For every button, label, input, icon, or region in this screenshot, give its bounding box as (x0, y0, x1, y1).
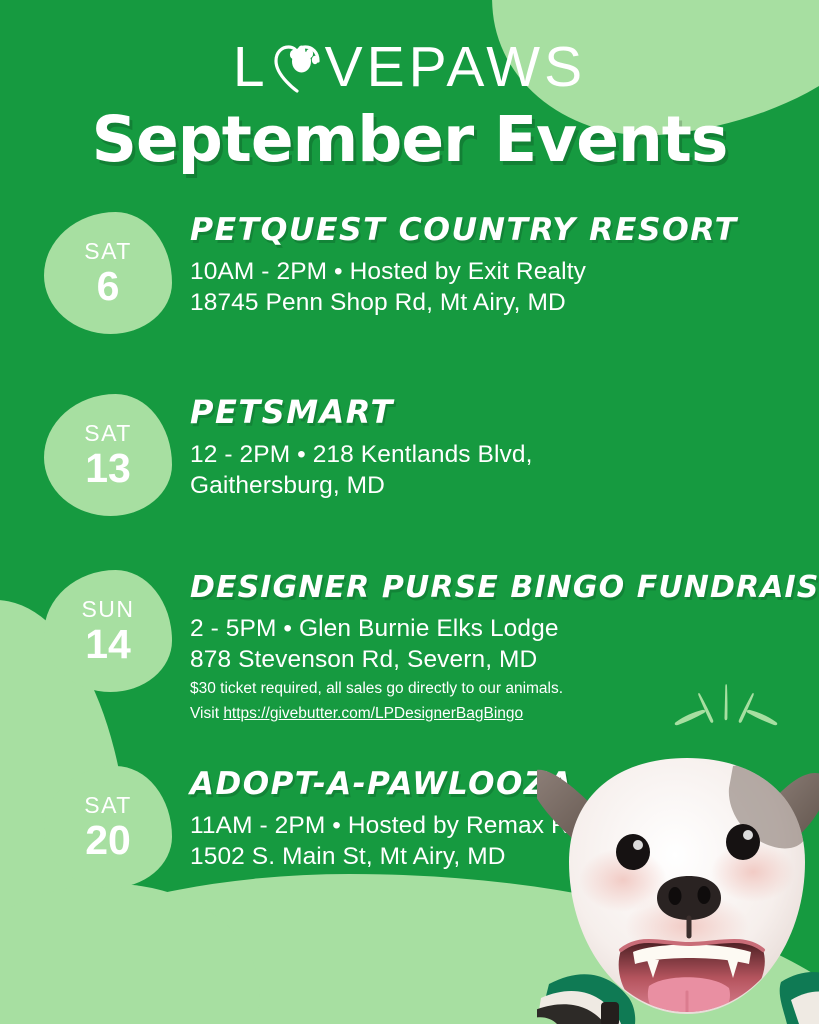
date-badge-day: 13 (85, 448, 131, 489)
list-item: SAT 13 PETSMART 12 - 2PM • 218 Kentlands… (0, 388, 819, 518)
event-link-line: Visit https://givebutter.com/LPDesignerB… (190, 704, 819, 725)
list-item: SAT 20 ADOPT-A-PAWLOOZA 11AM - 2PM • Hos… (0, 760, 819, 890)
event-details: PETQUEST COUNTRY RESORT 10AM - 2PM • Hos… (172, 206, 819, 319)
date-badge: SAT 13 (44, 394, 172, 516)
events-list: SAT 6 PETQUEST COUNTRY RESORT 10AM - 2PM… (0, 206, 819, 920)
event-time-host: 12 - 2PM • 218 Kentlands Blvd, (190, 439, 819, 470)
date-badge-day: 14 (85, 624, 131, 665)
visit-label: Visit (190, 705, 223, 722)
event-url-link[interactable]: https://givebutter.com/LPDesignerBagBing… (223, 705, 523, 722)
event-flyer: L VEPAWS September Events SAT 6 PETQUEST… (0, 0, 819, 1024)
event-address: 878 Stevenson Rd, Severn, MD (190, 644, 819, 675)
date-badge-dayofweek: SAT (84, 794, 132, 817)
event-title: ADOPT-A-PAWLOOZA (190, 768, 819, 801)
logo-text-left: L (233, 39, 269, 96)
event-ticket-note: $30 ticket required, all sales go direct… (190, 679, 819, 700)
event-details: PETSMART 12 - 2PM • 218 Kentlands Blvd, … (172, 388, 819, 501)
event-address: Gaithersburg, MD (190, 470, 819, 501)
brand-logo: L VEPAWS (0, 36, 819, 98)
event-address: 18745 Penn Shop Rd, Mt Airy, MD (190, 287, 819, 318)
list-item: SAT 6 PETQUEST COUNTRY RESORT 10AM - 2PM… (0, 206, 819, 336)
heart-paw-icon (271, 41, 323, 97)
date-badge-dayofweek: SAT (84, 422, 132, 445)
date-badge-dayofweek: SAT (84, 240, 132, 263)
page-title: September Events (0, 108, 819, 171)
event-title: PETQUEST COUNTRY RESORT (190, 214, 819, 247)
date-badge-day: 6 (97, 266, 120, 307)
date-badge: SAT 6 (44, 212, 172, 334)
date-badge-day: 20 (85, 820, 131, 861)
event-details: DESIGNER PURSE BINGO FUNDRAISER 2 - 5PM … (172, 564, 819, 724)
list-item: SUN 14 DESIGNER PURSE BINGO FUNDRAISER 2… (0, 564, 819, 724)
event-title: PETSMART (190, 396, 819, 430)
event-time-host: 2 - 5PM • Glen Burnie Elks Lodge (190, 613, 819, 644)
event-time-host: 10AM - 2PM • Hosted by Exit Realty (190, 256, 819, 287)
event-title: DESIGNER PURSE BINGO FUNDRAISER (190, 572, 819, 604)
event-details: ADOPT-A-PAWLOOZA 11AM - 2PM • Hosted by … (172, 760, 819, 872)
logo-text-right: VEPAWS (325, 39, 587, 96)
event-time-host: 11AM - 2PM • Hosted by Remax Realty (190, 810, 819, 841)
event-address: 1502 S. Main St, Mt Airy, MD (190, 841, 819, 872)
date-badge: SAT 20 (44, 766, 172, 888)
date-badge: SUN 14 (44, 570, 172, 692)
date-badge-dayofweek: SUN (81, 598, 134, 621)
